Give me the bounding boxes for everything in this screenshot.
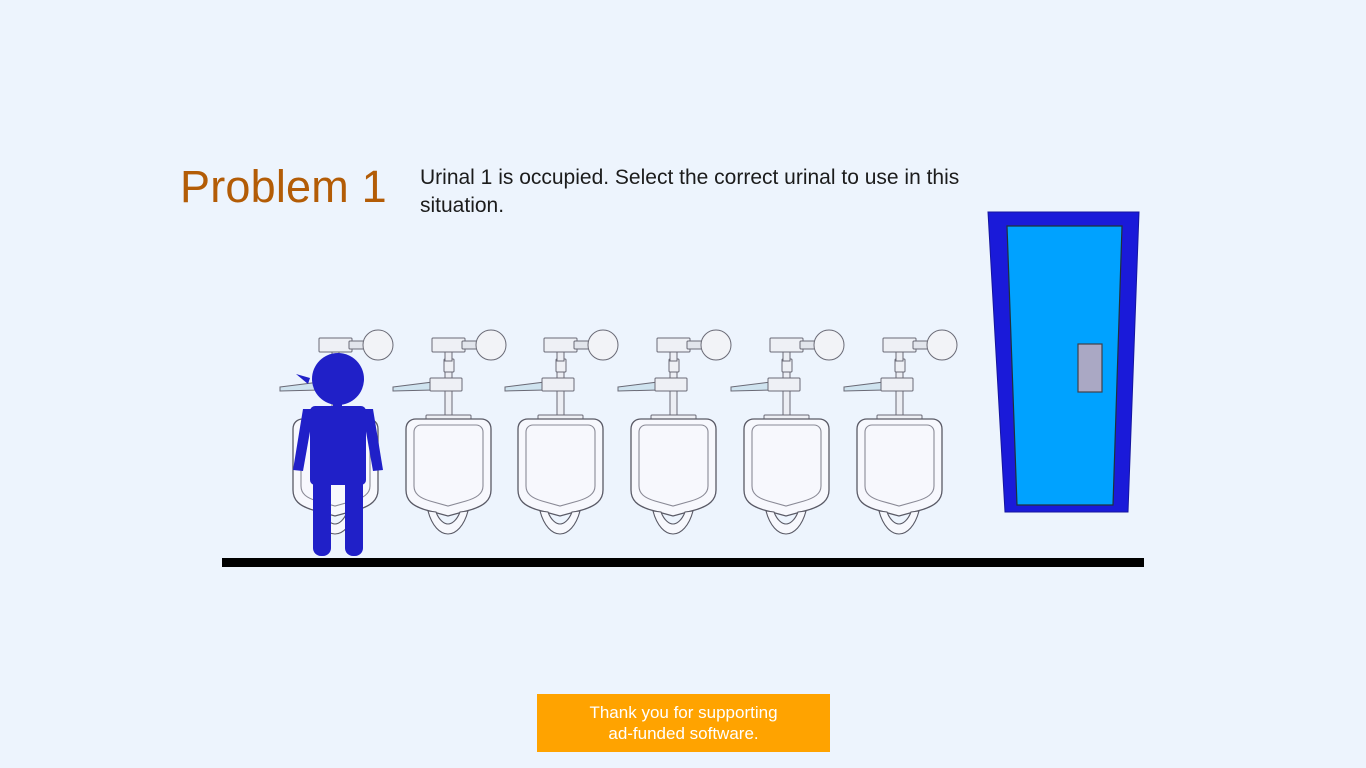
restroom-scene bbox=[0, 0, 1366, 768]
floor-line bbox=[222, 558, 1144, 567]
urinal-5[interactable] bbox=[731, 330, 844, 534]
ad-line-2: ad-funded software. bbox=[608, 723, 758, 744]
urinal-row bbox=[280, 330, 957, 534]
urinal-4[interactable] bbox=[618, 330, 731, 534]
ad-banner[interactable]: Thank you for supporting ad-funded softw… bbox=[537, 694, 830, 752]
door-panel bbox=[1007, 226, 1122, 505]
urinal-6[interactable] bbox=[844, 330, 957, 534]
urinal-2[interactable] bbox=[393, 330, 506, 534]
door-handle[interactable] bbox=[1078, 344, 1102, 392]
ad-line-1: Thank you for supporting bbox=[589, 702, 777, 723]
restroom-door[interactable] bbox=[988, 212, 1139, 512]
scene-svg bbox=[0, 0, 1366, 768]
urinal-3[interactable] bbox=[505, 330, 618, 534]
app-stage: Problem 1 Urinal 1 is occupied. Select t… bbox=[0, 0, 1366, 768]
